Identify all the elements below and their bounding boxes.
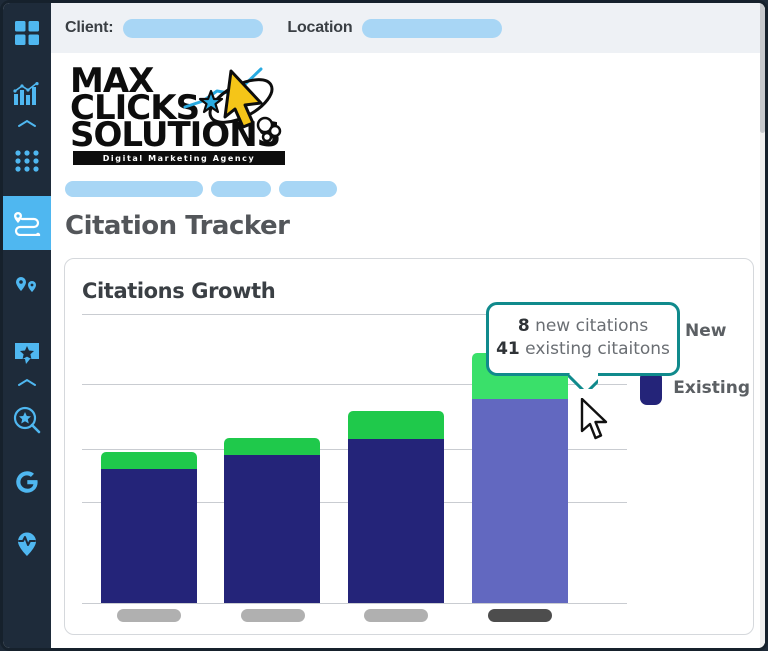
bar-2[interactable] — [224, 438, 320, 603]
tooltip-existing-line: 41 existing citaitons — [495, 338, 671, 361]
sidebar-item-rankings[interactable] — [3, 71, 51, 119]
route-path-icon — [12, 210, 42, 236]
tooltip-existing-text: existing citaitons — [525, 339, 670, 359]
sidebar-item-google[interactable] — [3, 458, 51, 506]
tooltip-notch — [568, 372, 598, 389]
bar-1-new-segment[interactable] — [101, 452, 197, 469]
grid-icon — [14, 20, 40, 46]
chart-title: Citations Growth — [82, 279, 275, 303]
client-label: Client: — [65, 19, 113, 37]
legend-label-new: New — [685, 321, 726, 341]
main-content: MAX CLICKS SOLUTIONS Digital Marketing A… — [51, 53, 768, 651]
star-magnifier-icon — [13, 406, 41, 434]
page-title: Citation Tracker — [65, 211, 289, 241]
breadcrumb — [65, 181, 337, 197]
legend-item-existing[interactable]: Existing — [640, 371, 750, 405]
chart-tooltip: 8 new citations 41 existing citaitons — [486, 302, 680, 376]
google-g-icon — [13, 468, 41, 496]
x-axis-labels — [82, 609, 627, 625]
bar-4[interactable] — [472, 353, 568, 603]
sidebar-item-dashboard[interactable] — [3, 9, 51, 57]
sidebar-item-local-search[interactable] — [3, 396, 51, 444]
location-label: Location — [287, 19, 352, 37]
bar-chart-icon — [12, 82, 42, 108]
legend-swatch-existing — [640, 371, 662, 405]
scrollbar-track[interactable] — [760, 3, 765, 648]
bar-4-existing-segment[interactable] — [472, 399, 568, 603]
client-input-redacted[interactable] — [123, 19, 263, 38]
bar-2-existing-segment[interactable] — [224, 455, 320, 603]
map-pins-icon — [12, 276, 42, 300]
app-window: Client: Location MAX CLICKS SOLUTIONS Di… — [0, 0, 768, 651]
tooltip-new-text: new citations — [535, 316, 648, 336]
axis-line — [82, 603, 627, 604]
tooltip-new-line: 8 new citations — [495, 315, 671, 338]
bar-3-new-segment[interactable] — [348, 411, 444, 439]
breadcrumb-pill-2[interactable] — [211, 181, 271, 197]
breadcrumb-pill-1[interactable] — [65, 181, 203, 197]
tooltip-existing-count: 41 — [496, 339, 520, 359]
bar-3-existing-segment[interactable] — [348, 439, 444, 603]
brand-logo: MAX CLICKS SOLUTIONS Digital Marketing A… — [65, 63, 325, 168]
sidebar-item-citation-tracker[interactable] — [3, 196, 51, 250]
logo-cursor-art-icon — [183, 61, 293, 166]
tooltip-new-count: 8 — [518, 316, 530, 336]
legend-label-existing: Existing — [673, 378, 750, 398]
bar-1[interactable] — [101, 452, 197, 603]
sidebar-item-locations[interactable] — [3, 264, 51, 312]
x-label-3-redacted[interactable] — [364, 609, 428, 622]
bar-3[interactable] — [348, 411, 444, 603]
x-label-4-redacted[interactable] — [488, 609, 552, 622]
sidebar-item-reviews[interactable] — [3, 330, 51, 378]
x-label-2-redacted[interactable] — [241, 609, 305, 622]
dots-grid-icon — [14, 150, 40, 172]
bar-1-existing-segment[interactable] — [101, 469, 197, 603]
chevron-up-icon — [3, 378, 51, 387]
chevron-up-icon — [3, 119, 51, 128]
sidebar-item-apps[interactable] — [3, 137, 51, 185]
topbar: Client: Location — [51, 3, 768, 53]
breadcrumb-pill-3[interactable] — [279, 181, 337, 197]
x-label-1-redacted[interactable] — [117, 609, 181, 622]
sidebar-item-health[interactable] — [3, 520, 51, 568]
bar-2-new-segment[interactable] — [224, 438, 320, 455]
star-badge-icon — [13, 341, 41, 367]
sidebar-nav — [3, 3, 51, 651]
pin-pulse-icon — [14, 530, 40, 558]
scrollbar-thumb[interactable] — [760, 3, 765, 133]
location-input-redacted[interactable] — [362, 19, 502, 38]
